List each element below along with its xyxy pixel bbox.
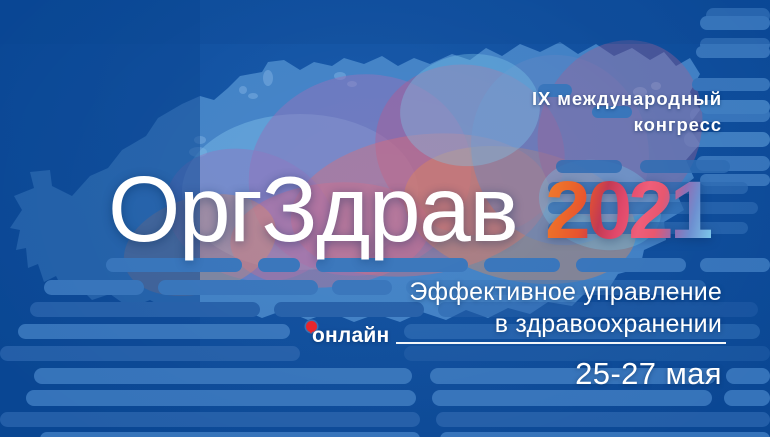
kicker-line-2: конгресс: [634, 114, 722, 135]
poster-canvas: IX международный конгресс ОргЗдрав 2021 …: [0, 0, 770, 437]
event-wordmark: ОргЗдрав: [108, 163, 517, 256]
format-row: онлайн: [306, 325, 726, 346]
text-layer: IX международный конгресс ОргЗдрав 2021 …: [0, 0, 770, 437]
congress-kicker: IX международный конгресс: [392, 86, 722, 139]
event-dates: 25-27 мая: [422, 358, 722, 389]
location-pin-icon: [306, 321, 317, 332]
kicker-line-1: IX международный: [532, 88, 722, 109]
underline-rule: [396, 342, 726, 344]
event-year: 2021: [545, 170, 711, 252]
tagline-line-1: Эффективное управление: [409, 278, 722, 306]
format-label: онлайн: [306, 325, 389, 346]
